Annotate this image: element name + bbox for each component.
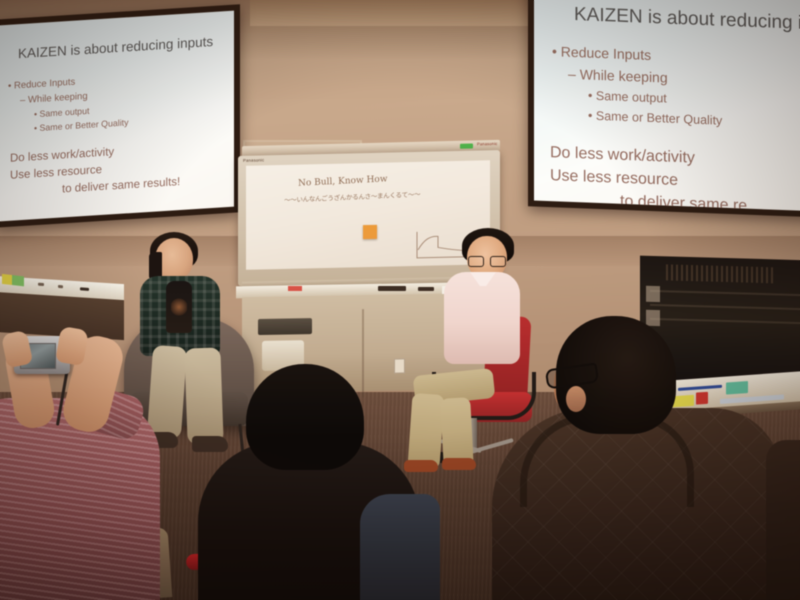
audience-center-head bbox=[246, 364, 364, 470]
speaker-right-shin-1 bbox=[407, 393, 444, 469]
right-slide-closing-3: to deliver same re bbox=[620, 193, 747, 212]
audience-center-neighbor-shoulder bbox=[360, 494, 440, 600]
whiteboard-brand-frame: Panasonic bbox=[243, 157, 264, 162]
ceiling-strip bbox=[250, 0, 550, 26]
glasses-lens-left bbox=[468, 256, 484, 267]
credenza-item-box bbox=[378, 286, 406, 291]
speaker-right-sandal-1 bbox=[404, 460, 438, 472]
credenza-door-seam bbox=[362, 309, 364, 397]
left-slide-bullet-3: Same output bbox=[34, 106, 89, 119]
right-table-red-cup bbox=[696, 392, 708, 405]
right-table-blue-marker bbox=[678, 385, 722, 391]
left-slide-closing-1: Do less work/activity bbox=[10, 146, 114, 165]
speaker-left-leg-2 bbox=[184, 347, 223, 444]
left-projection-screen: KAIZEN is about reducing inputs Reduce I… bbox=[0, 4, 240, 227]
left-slide-title: KAIZEN is about reducing inputs bbox=[18, 34, 213, 61]
left-screen-surface: KAIZEN is about reducing inputs Reduce I… bbox=[0, 11, 234, 222]
credenza-item-remote bbox=[418, 287, 434, 291]
right-slide-bullet-2: While keeping bbox=[568, 66, 668, 86]
left-table-sticky-notes bbox=[2, 274, 24, 287]
right-projection-screen: KAIZEN is about reducing in Reduce Input… bbox=[528, 0, 800, 218]
orange-sticky-note-icon bbox=[363, 225, 377, 239]
rack-slot-3 bbox=[650, 318, 800, 324]
left-table-pen bbox=[80, 287, 89, 291]
rack-label-strip bbox=[666, 264, 774, 283]
right-slide-bullet-3: Same output bbox=[588, 89, 667, 106]
left-slide-bullet-4: Same or Better Quality bbox=[34, 117, 129, 133]
right-table-paper-strip bbox=[720, 394, 784, 403]
power-led-icon bbox=[460, 143, 473, 148]
audience-right-ear bbox=[566, 386, 586, 412]
left-slide-closing-3: to deliver same results! bbox=[62, 176, 180, 195]
speaker-left-legs bbox=[146, 346, 254, 452]
wall-outlet-icon bbox=[394, 358, 405, 373]
speaker-right-sandal-2 bbox=[442, 458, 476, 470]
whiteboard-frame: Panasonic No Bull, Know How 〜〜いんなんごうざんかる… bbox=[238, 150, 500, 286]
speaker-left-leg-1 bbox=[147, 345, 187, 439]
rack-slot-2 bbox=[650, 304, 800, 310]
left-slide: KAIZEN is about reducing inputs Reduce I… bbox=[0, 11, 234, 222]
right-slide-bullet-4: Same or Better Quality bbox=[588, 109, 722, 128]
whiteboard-surface: No Bull, Know How 〜〜いんなんごうざんかるんさ〜まんくるて〜〜 bbox=[246, 160, 490, 270]
rack-button-2[interactable] bbox=[646, 310, 660, 326]
photo-scene: KAIZEN is about reducing inputs Reduce I… bbox=[0, 0, 800, 600]
whiteboard-handwriting-line-1: No Bull, Know How bbox=[298, 174, 388, 188]
credenza-red-item bbox=[288, 286, 302, 291]
left-slide-bullet-1: Reduce Inputs bbox=[8, 77, 75, 92]
whiteboard-handwriting-line-2: 〜〜いんなんごうざんかるんさ〜まんくるて〜〜 bbox=[284, 188, 420, 204]
right-slide-closing-1: Do less work/activity bbox=[550, 144, 695, 168]
right-screen-surface: KAIZEN is about reducing in Reduce Input… bbox=[534, 0, 800, 212]
speaker-left-tee-print bbox=[171, 298, 187, 316]
speaker-right-glasses-icon bbox=[468, 256, 504, 265]
right-slide-title: KAIZEN is about reducing in bbox=[574, 4, 800, 35]
right-slide-bullet-1: Reduce Inputs bbox=[552, 43, 651, 63]
left-table-small-item-2 bbox=[58, 285, 63, 288]
right-table-teal-sticky bbox=[726, 381, 748, 395]
left-slide-bullet-2: While keeping bbox=[20, 91, 88, 106]
rack-button-1[interactable] bbox=[646, 286, 660, 302]
speaker-left-shoe-2 bbox=[192, 436, 228, 452]
left-slide-closing-2: Use less resource bbox=[10, 164, 102, 182]
right-slide: KAIZEN is about reducing in Reduce Input… bbox=[534, 0, 800, 212]
rack-slot-1 bbox=[650, 290, 800, 296]
glasses-lens-right bbox=[490, 256, 506, 267]
left-table-small-item-1 bbox=[38, 283, 44, 286]
right-slide-closing-2: Use less resource bbox=[550, 167, 678, 190]
whiteboard-brand-top: Panasonic bbox=[477, 141, 497, 147]
av-equipment-slot bbox=[258, 318, 312, 335]
audience-far-right-sliver bbox=[766, 440, 800, 600]
